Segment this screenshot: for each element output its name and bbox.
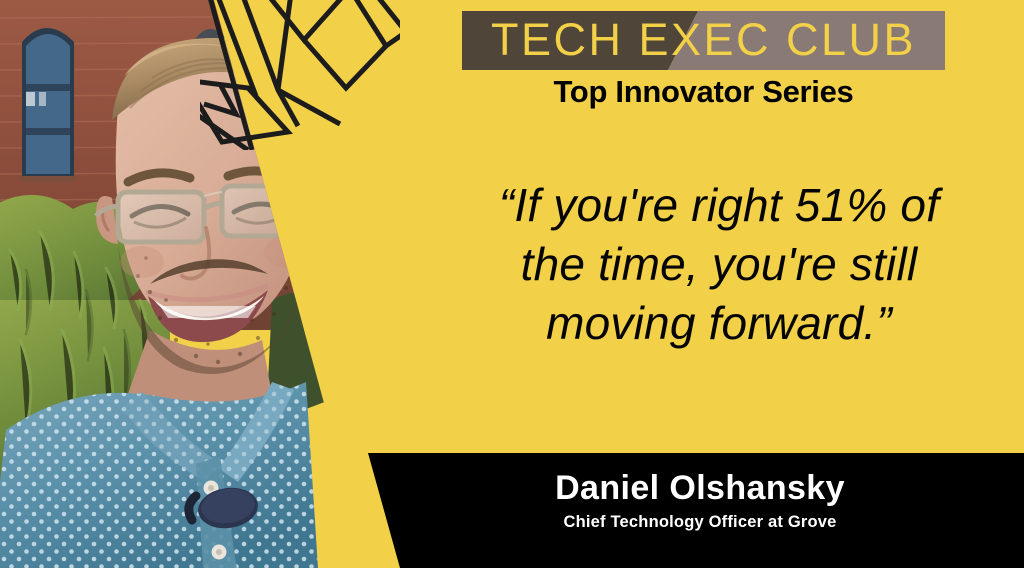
- logo-text: TECH EXEC CLUB: [462, 11, 945, 70]
- background-window: [20, 28, 76, 182]
- quote-line-3: moving forward.”: [455, 294, 983, 353]
- geometric-polygon-line-art: [200, 0, 400, 150]
- speaker-identity-block: Daniel Olshansky Chief Technology Office…: [440, 470, 960, 532]
- quote-text: “If you're right 51% of the time, you're…: [455, 176, 983, 353]
- quote-line-1: “If you're right 51% of: [455, 176, 983, 235]
- speaker-name: Daniel Olshansky: [440, 470, 960, 507]
- quote-line-2: the time, you're still: [455, 235, 983, 294]
- quote-card: TECH EXEC CLUB Top Innovator Series “If …: [0, 0, 1024, 568]
- series-label: Top Innovator Series: [462, 74, 945, 110]
- speaker-title: Chief Technology Officer at Grove: [440, 513, 960, 532]
- brand-logo-badge: TECH EXEC CLUB: [462, 11, 945, 70]
